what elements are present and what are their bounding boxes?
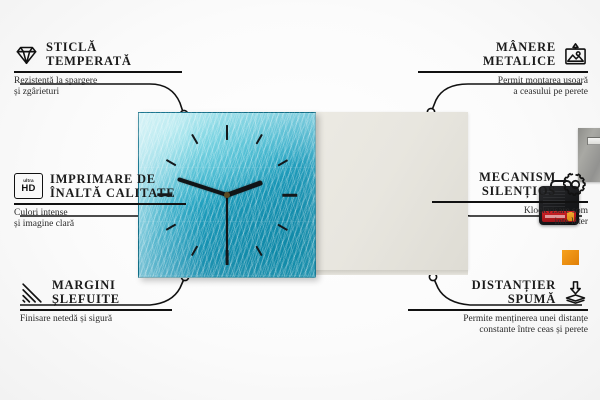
- feature-title: MARGINI ȘLEFUITE: [52, 278, 120, 306]
- feature-subtitle: Permite menținerea unei distanțe constan…: [408, 314, 588, 337]
- feature-mecanism-silentios[interactable]: MECANISM SILENȚIOS Klockvisare som inte …: [432, 170, 588, 229]
- feature-manere-metalice[interactable]: MÂNERE METALICE Permit montarea ușoară a…: [418, 40, 588, 99]
- second-hand: [226, 195, 228, 251]
- ultra-hd-icon-main: HD: [21, 184, 35, 194]
- center-pin: [224, 192, 230, 198]
- feature-subtitle: Finisare netedă și sigură: [20, 314, 172, 326]
- feature-title: MECANISM SILENȚIOS: [479, 170, 556, 198]
- feature-subtitle: Permit montarea ușoară a ceasului pe per…: [418, 76, 588, 99]
- divider: [418, 71, 588, 73]
- foam-spacer: [562, 250, 579, 265]
- feature-imprimare-hd[interactable]: ultra HD IMPRIMARE DE ÎNALTĂ CALITATE Cu…: [14, 172, 186, 231]
- feature-subtitle: Klockvisare som inte låter: [432, 206, 588, 229]
- feature-title: IMPRIMARE DE ÎNALTĂ CALITATE: [50, 172, 175, 200]
- feature-title: DISTANȚIER SPUMĂ: [472, 278, 556, 306]
- product-photo: [138, 112, 468, 276]
- foam-spacer-icon: [563, 280, 588, 305]
- feature-margini-slefuite[interactable]: MARGINI ȘLEFUITE Finisare netedă și sigu…: [20, 278, 172, 325]
- picture-hanger-icon: [563, 42, 588, 67]
- divider: [432, 201, 588, 203]
- polished-edge-icon: [20, 280, 45, 305]
- infographic-canvas: STICLĂ TEMPERATĂ Rezistentă la spargere …: [0, 0, 600, 400]
- divider: [14, 203, 186, 205]
- feature-title: STICLĂ TEMPERATĂ: [46, 40, 132, 68]
- feature-title: MÂNERE METALICE: [483, 40, 556, 68]
- feature-distantier-spuma[interactable]: DISTANȚIER SPUMĂ Permite menținerea unei…: [408, 278, 588, 337]
- diamond-icon: [14, 42, 39, 67]
- gear-icon: [563, 172, 588, 197]
- feature-subtitle: Culori intense și imagine clară: [14, 208, 186, 231]
- hour-hand: [226, 180, 262, 197]
- feature-subtitle: Rezistentă la spargere și zgârieturi: [14, 76, 182, 99]
- hanger-slot: [587, 137, 600, 145]
- ultra-hd-icon: ultra HD: [14, 173, 43, 199]
- divider: [14, 71, 182, 73]
- divider: [408, 309, 588, 311]
- feature-sticla-temperata[interactable]: STICLĂ TEMPERATĂ Rezistentă la spargere …: [14, 40, 182, 99]
- divider: [20, 309, 172, 311]
